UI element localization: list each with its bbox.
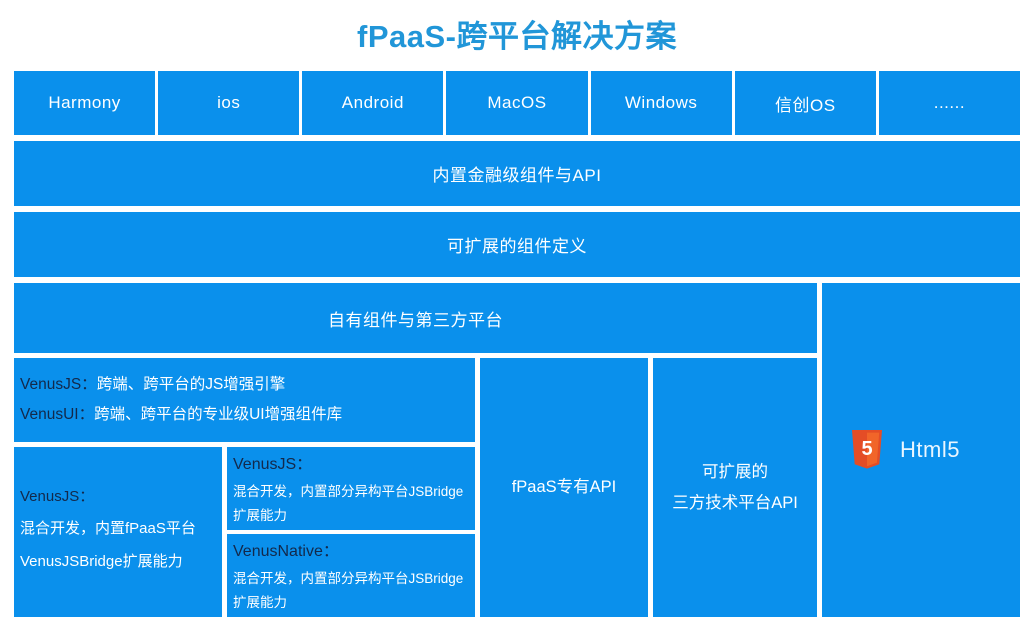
api-column-fpaas[interactable]: fPaaS专有API — [480, 358, 648, 617]
venusjs-hybrid-line-1: 混合开发，内置fPaaS平台 — [20, 513, 216, 545]
venusnative-sub-label: VenusNative： — [233, 540, 469, 565]
venusjs-label: VenusJS： — [20, 376, 97, 393]
main-left-stack: 自有组件与第三方平台 VenusJS：跨端、跨平台的JS增强引擎 VenusUI… — [14, 283, 817, 617]
html5-badge: 5 Html5 — [850, 430, 960, 470]
venusjs-hybrid-box[interactable]: VenusJS： 混合开发，内置fPaaS平台 VenusJSBridge扩展能… — [14, 447, 222, 617]
venusnative-sub-body: 混合开发，内置部分异构平台JSBridge扩展能力 — [233, 565, 469, 614]
platform-cell-macos[interactable]: MacOS — [446, 71, 587, 135]
venusjs-sub-box[interactable]: VenusJS： 混合开发，内置部分异构平台JSBridge扩展能力 — [227, 447, 475, 530]
lower-grid: VenusJS：跨端、跨平台的JS增强引擎 VenusUI：跨端、跨平台的专业级… — [14, 358, 817, 617]
venusnative-sub-box[interactable]: VenusNative： 混合开发，内置部分异构平台JSBridge扩展能力 — [227, 534, 475, 617]
platform-row: Harmony ios Android MacOS Windows 信创OS .… — [14, 71, 1020, 135]
page-title: fPaaS-跨平台解决方案 — [0, 0, 1034, 71]
venusui-description: 跨端、跨平台的专业级UI增强组件库 — [94, 406, 342, 423]
venusjs-sub-label: VenusJS： — [233, 453, 469, 478]
main-body-row: 自有组件与第三方平台 VenusJS：跨端、跨平台的JS增强引擎 VenusUI… — [14, 283, 1020, 617]
venus-sub-stack: VenusJS： 混合开发，内置部分异构平台JSBridge扩展能力 Venus… — [227, 447, 475, 617]
venusjs-hybrid-label: VenusJS： — [20, 481, 216, 513]
architecture-diagram: Harmony ios Android MacOS Windows 信创OS .… — [14, 71, 1020, 617]
api-third-party-text: 可扩展的 三方技术平台API — [672, 457, 798, 518]
svg-text:5: 5 — [861, 438, 872, 460]
platform-cell-xinchuangos[interactable]: 信创OS — [735, 71, 876, 135]
band-self-owned-components[interactable]: 自有组件与第三方平台 — [14, 283, 817, 353]
venusjs-hybrid-line-2: VenusJSBridge扩展能力 — [20, 546, 216, 578]
venus-section: VenusJS：跨端、跨平台的JS增强引擎 VenusUI：跨端、跨平台的专业级… — [14, 358, 475, 617]
platform-cell-ios[interactable]: ios — [158, 71, 299, 135]
band-extensible-component-definition[interactable]: 可扩展的组件定义 — [14, 212, 1020, 277]
venus-split-row: VenusJS： 混合开发，内置fPaaS平台 VenusJSBridge扩展能… — [14, 447, 475, 617]
html5-shield-icon: 5 — [850, 430, 884, 470]
platform-cell-harmony[interactable]: Harmony — [14, 71, 155, 135]
html5-label: Html5 — [900, 437, 960, 463]
platform-cell-more[interactable]: ...... — [879, 71, 1020, 135]
venus-intro-box[interactable]: VenusJS：跨端、跨平台的JS增强引擎 VenusUI：跨端、跨平台的专业级… — [14, 358, 475, 442]
api-third-party-line-1: 可扩展的 — [672, 457, 798, 488]
venus-intro-line-1: VenusJS：跨端、跨平台的JS增强引擎 — [20, 370, 469, 400]
platform-cell-android[interactable]: Android — [302, 71, 443, 135]
venusjs-description: 跨端、跨平台的JS增强引擎 — [97, 376, 286, 393]
venusjs-sub-body: 混合开发，内置部分异构平台JSBridge扩展能力 — [233, 478, 469, 527]
api-third-party-line-2: 三方技术平台API — [672, 488, 798, 519]
api-column-third-party[interactable]: 可扩展的 三方技术平台API — [653, 358, 817, 617]
html5-column[interactable]: 5 Html5 — [822, 283, 1020, 617]
platform-cell-windows[interactable]: Windows — [591, 71, 732, 135]
diagram-page: fPaaS-跨平台解决方案 Harmony ios Android MacOS … — [0, 0, 1034, 634]
venusui-label: VenusUI： — [20, 406, 94, 423]
venus-intro-line-2: VenusUI：跨端、跨平台的专业级UI增强组件库 — [20, 400, 469, 430]
band-builtin-financial-components[interactable]: 内置金融级组件与API — [14, 141, 1020, 206]
